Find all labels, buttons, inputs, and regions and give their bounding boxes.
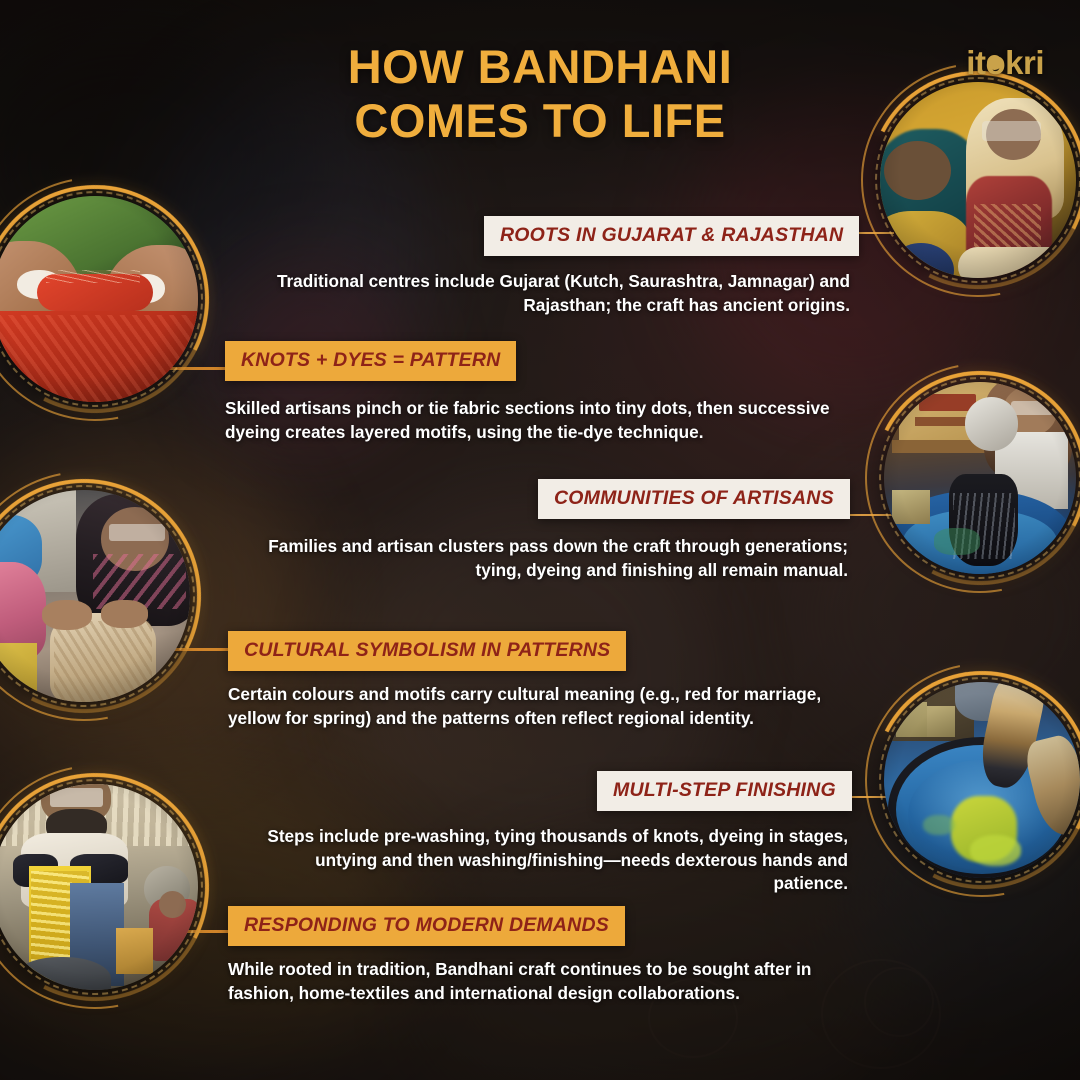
section-body-roots: Traditional centres include Gujarat (Kut… <box>250 270 850 317</box>
photo-bundles-in-dye-vat <box>884 682 1080 878</box>
photo-artisan-dyeing-tub <box>884 382 1076 574</box>
section-heading-modern-demands: RESPONDING TO MODERN DEMANDS <box>228 906 625 946</box>
photo-hands-tying-red-cloth <box>0 196 198 402</box>
section-body-communities: Families and artisan clusters pass down … <box>240 535 848 582</box>
logo-text-before: it <box>966 44 985 81</box>
section-body-symbolism: Certain colours and motifs carry cultura… <box>228 683 848 730</box>
section-heading-roots: ROOTS IN GUJARAT & RAJASTHAN <box>484 216 859 256</box>
itokri-logo[interactable]: itokri <box>966 44 1044 82</box>
section-body-knots-dyes: Skilled artisans pinch or tie fabric sec… <box>225 397 845 444</box>
logo-o-mark: o <box>985 44 1005 82</box>
section-heading-finishing: MULTI-STEP FINISHING <box>597 771 852 811</box>
page-title: HOW BANDHANI COMES TO LIFE <box>0 40 1080 147</box>
logo-text-after: kri <box>1005 44 1044 81</box>
page-title-line1: HOW BANDHANI <box>0 40 1080 94</box>
section-heading-symbolism: CULTURAL SYMBOLISM IN PATTERNS <box>228 631 626 671</box>
photo-man-lifting-yellow <box>0 784 198 990</box>
section-body-finishing: Steps include pre-washing, tying thousan… <box>240 825 848 896</box>
section-heading-communities: COMMUNITIES OF ARTISANS <box>538 479 850 519</box>
section-body-modern-demands: While rooted in tradition, Bandhani craf… <box>228 958 828 1005</box>
page-title-line2: COMES TO LIFE <box>0 94 1080 148</box>
photo-women-untying-bundle <box>0 490 190 702</box>
section-heading-knots-dyes: KNOTS + DYES = PATTERN <box>225 341 516 381</box>
